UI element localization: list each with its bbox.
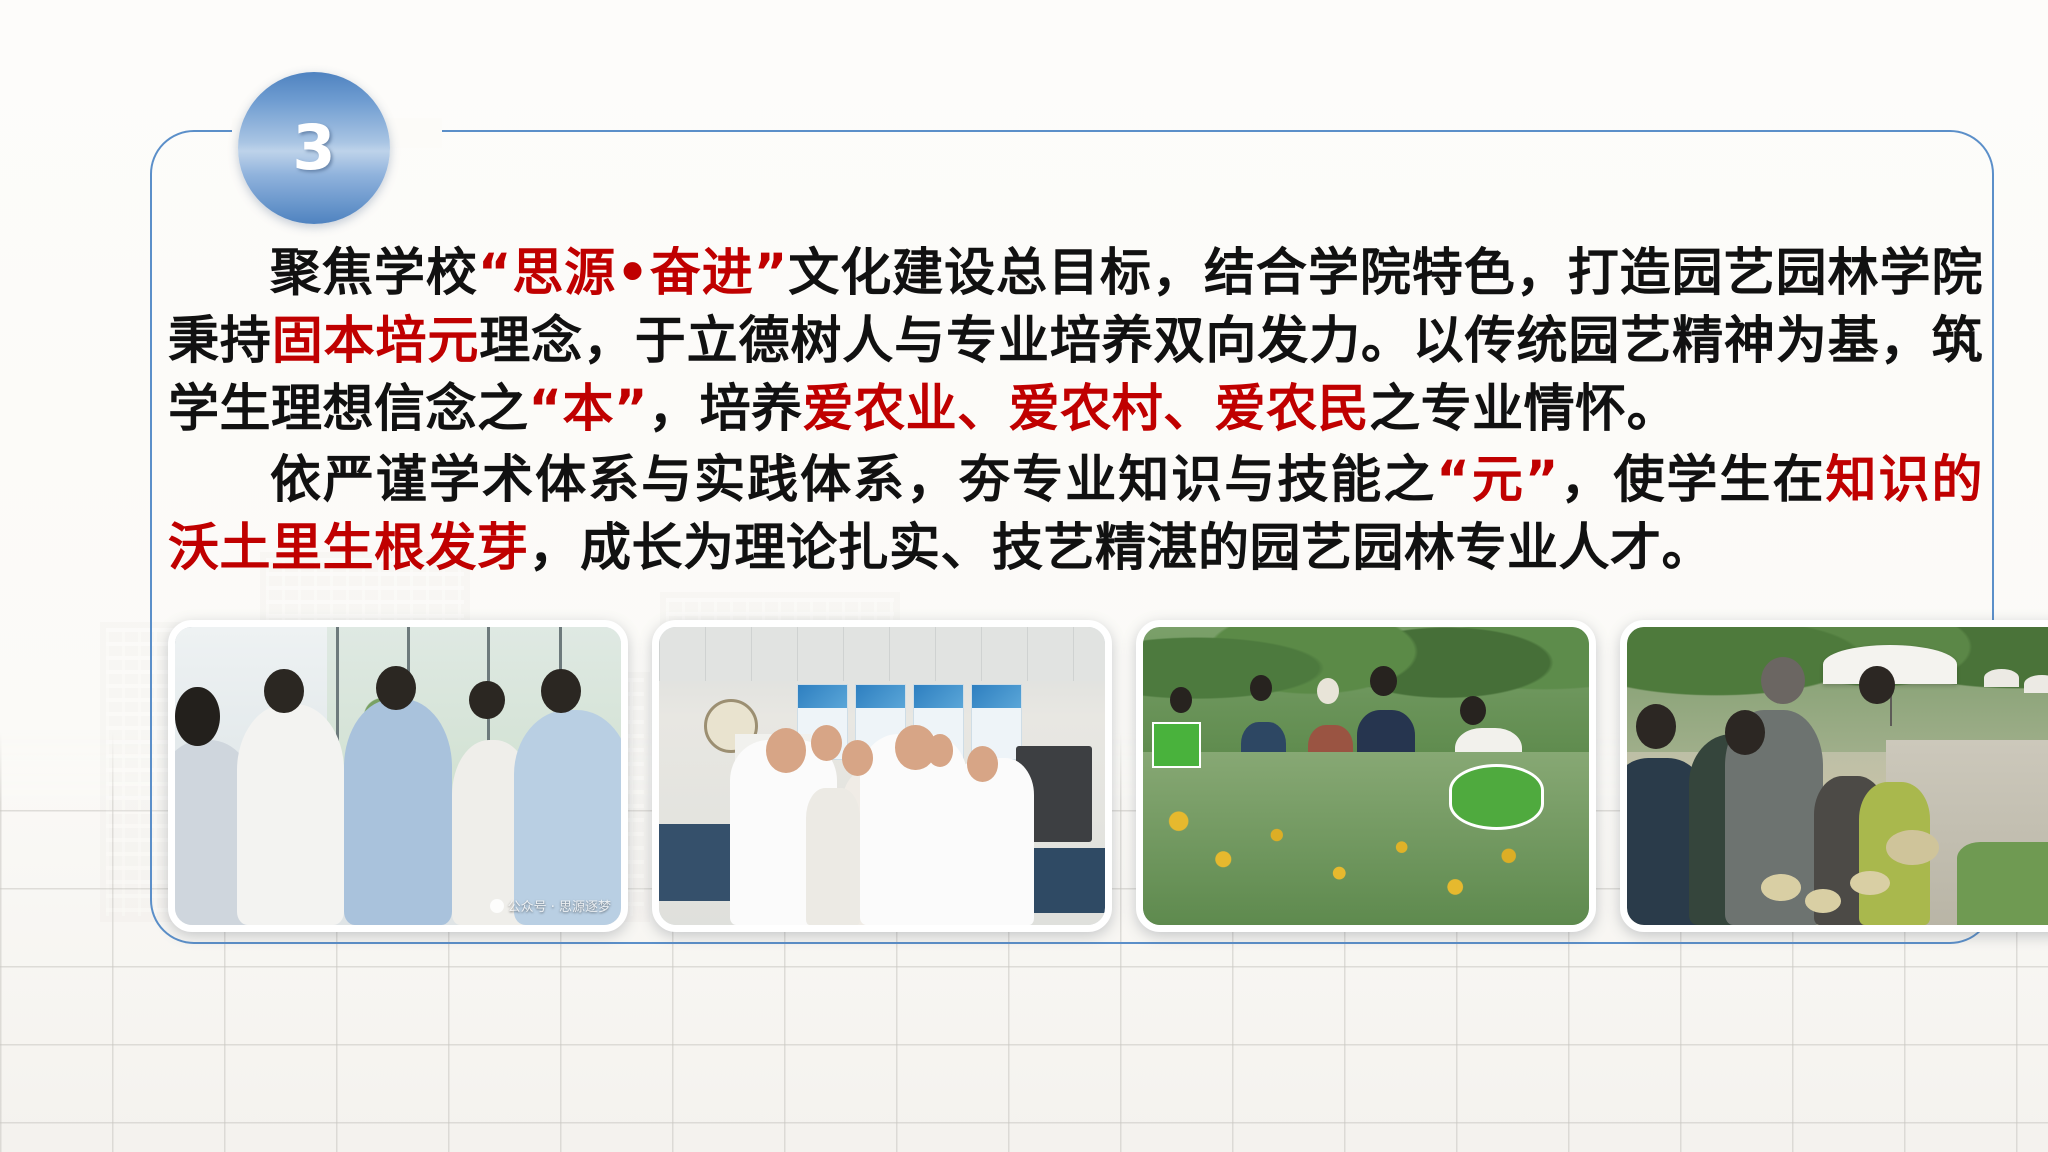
paragraph-1: 聚焦学校“思源•奋进”文化建设总目标，结合学院特色，打造园艺园林学院秉持固本培元…: [168, 240, 1983, 443]
paragraph-1-run-0: 聚焦学校: [270, 244, 478, 303]
paragraph-1-run-5: “本”: [529, 380, 649, 439]
paragraph-2-run-1: “元”: [1436, 451, 1559, 510]
photo-watermark: 公众号 · 思源逐梦: [490, 896, 611, 915]
photo-garden-exhibition[interactable]: [1136, 620, 1596, 932]
section-number-label: 3: [292, 117, 335, 179]
wechat-icon: [490, 899, 504, 913]
photo-strip: 公众号 · 思源逐梦: [168, 620, 2048, 932]
paragraph-2: 依严谨学术体系与实践体系，夯专业知识与技能之“元”，使学生在知识的沃土里生根发芽…: [168, 447, 1983, 583]
photo-campus-visit[interactable]: 公众号 · 思源逐梦: [168, 620, 628, 932]
slide-canvas: 3 聚焦学校“思源•奋进”文化建设总目标，结合学院特色，打造园艺园林学院秉持固本…: [0, 0, 2048, 1152]
photo-laboratory-team[interactable]: [652, 620, 1112, 932]
paragraph-1-run-3: 固本培元: [272, 312, 479, 371]
paragraph-2-run-4: ，成长为理论扎实、技艺精湛的园艺园林专业人才。: [529, 519, 1714, 578]
paragraph-2-run-2: ，使学生在: [1559, 451, 1826, 510]
section-number-badge: 3: [238, 72, 390, 224]
body-text-block: 聚焦学校“思源•奋进”文化建设总目标，结合学院特色，打造园艺园林学院秉持固本培元…: [168, 240, 1983, 587]
paragraph-1-run-7: 爱农业、爱农村、爱农民: [803, 380, 1370, 439]
paragraph-1-run-6: ，培养: [648, 380, 803, 439]
paragraph-1-run-8: 之专业情怀。: [1369, 380, 1678, 439]
paragraph-1-run-1: “思源•奋进”: [478, 244, 788, 303]
paragraph-2-run-0: 依严谨学术体系与实践体系，夯专业知识与技能之: [270, 451, 1436, 510]
photo-garlic-harvest[interactable]: [1620, 620, 2048, 932]
